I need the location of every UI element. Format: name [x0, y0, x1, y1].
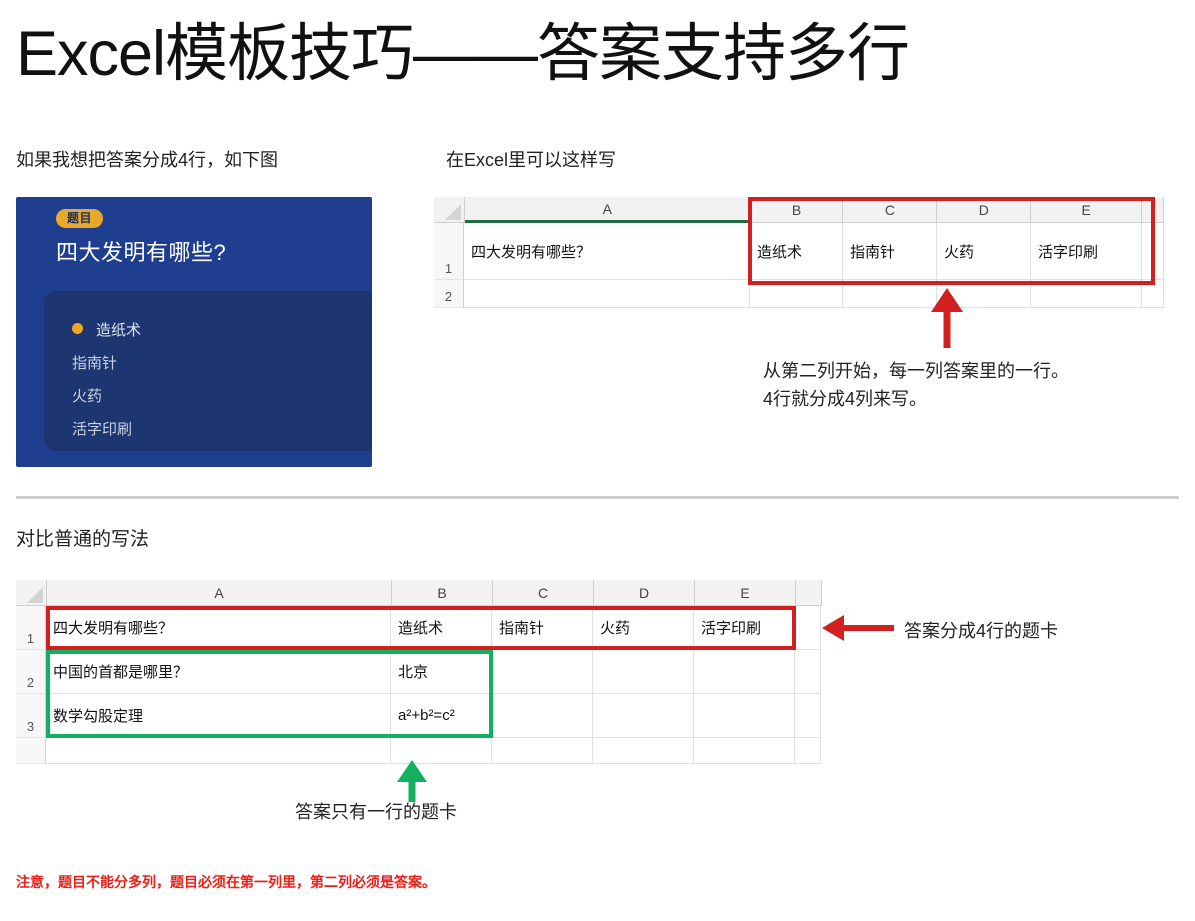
top-note-line-1: 从第二列开始，每一列答案里的一行。 — [763, 358, 1183, 386]
column-header-c[interactable]: C — [843, 197, 937, 223]
column-header-row: A B C D E — [16, 580, 822, 606]
cell-c2[interactable] — [492, 650, 593, 694]
cell-e1[interactable]: 活字印刷 — [694, 606, 795, 650]
status-badge: 题目 — [56, 209, 103, 228]
column-header-d[interactable]: D — [937, 197, 1031, 223]
cell-a4[interactable] — [46, 738, 391, 764]
cell-d4[interactable] — [593, 738, 694, 764]
row-header-2[interactable]: 2 — [434, 280, 464, 308]
column-header-a[interactable]: A — [465, 197, 751, 223]
row-header-1[interactable]: 1 — [434, 223, 464, 280]
cell-b1[interactable]: 造纸术 — [750, 223, 843, 280]
answer-item-2: 指南针 — [72, 352, 117, 373]
cell-c2[interactable] — [843, 280, 937, 308]
table-row[interactable]: 1 四大发明有哪些？ 造纸术 指南针 火药 活字印刷 — [434, 223, 1164, 280]
cell-b3[interactable]: a²+b²=c² — [391, 694, 492, 738]
cell-f2[interactable] — [795, 650, 821, 694]
cell-e3[interactable] — [694, 694, 795, 738]
answer-item-3: 火药 — [72, 385, 102, 406]
section-divider — [16, 496, 1179, 499]
cell-f2[interactable] — [1142, 280, 1164, 308]
red-up-arrow-icon — [931, 288, 963, 348]
column-header-a[interactable]: A — [47, 580, 392, 606]
cell-f3[interactable] — [795, 694, 821, 738]
answer-panel: 造纸术 指南针 火药 活字印刷 — [44, 291, 372, 451]
answer-item-4: 活字印刷 — [72, 418, 132, 439]
cell-f1[interactable] — [1142, 223, 1164, 280]
cell-a2[interactable]: 中国的首都是哪里？ — [46, 650, 391, 694]
cell-b1[interactable]: 造纸术 — [391, 606, 492, 650]
column-header-f[interactable] — [796, 580, 822, 606]
column-header-d[interactable]: D — [594, 580, 695, 606]
cell-e4[interactable] — [694, 738, 795, 764]
top-annotation-note: 从第二列开始，每一列答案里的一行。 4行就分成4列来写。 — [763, 358, 1183, 414]
cell-a1[interactable]: 四大发明有哪些？ — [464, 223, 750, 280]
section-title: 对比普通的写法 — [16, 524, 149, 551]
row-header-1[interactable]: 1 — [16, 606, 46, 650]
slide-canvas: Excel模板技巧——答案支持多行 如果我想把答案分成4行，如下图 在Excel… — [0, 0, 1195, 921]
green-up-arrow-icon — [397, 760, 427, 802]
warning-text: 注意，题目不能分多列，题目必须在第一列里，第二列必须是答案。 — [16, 872, 436, 892]
row-header-4[interactable] — [16, 738, 46, 764]
table-row[interactable]: 2 中国的首都是哪里？ 北京 — [16, 650, 822, 694]
cell-c1[interactable]: 指南针 — [843, 223, 937, 280]
select-all-triangle-icon[interactable] — [434, 197, 465, 223]
subheading-left: 如果我想把答案分成4行，如下图 — [16, 146, 278, 172]
cell-a1[interactable]: 四大发明有哪些？ — [46, 606, 391, 650]
cell-d3[interactable] — [593, 694, 694, 738]
top-note-line-2: 4行就分成4列来写。 — [763, 386, 1183, 414]
top-excel-grid[interactable]: A B C D E 1 四大发明有哪些？ 造纸术 指南针 火药 活字印刷 2 — [434, 197, 1164, 308]
answer-label-1: 造纸术 — [96, 322, 141, 339]
red-left-arrow-icon — [822, 620, 894, 636]
row-header-3[interactable]: 3 — [16, 694, 46, 738]
cell-e2[interactable] — [1031, 280, 1142, 308]
cell-c3[interactable] — [492, 694, 593, 738]
table-row[interactable]: 3 数学勾股定理 a²+b²=c² — [16, 694, 822, 738]
column-header-f[interactable] — [1142, 197, 1164, 223]
cell-b2[interactable]: 北京 — [391, 650, 492, 694]
column-header-b[interactable]: B — [751, 197, 844, 223]
card-question-text: 四大发明有哪些? — [56, 235, 226, 267]
green-arrow-label: 答案只有一行的题卡 — [295, 799, 457, 827]
cell-d1[interactable]: 火药 — [593, 606, 694, 650]
cell-a3[interactable]: 数学勾股定理 — [46, 694, 391, 738]
cell-f4[interactable] — [795, 738, 821, 764]
table-row[interactable]: 2 — [434, 280, 1164, 308]
cell-f1[interactable] — [795, 606, 821, 650]
cell-d2[interactable] — [593, 650, 694, 694]
answer-item-1: 造纸术 — [72, 319, 141, 340]
cell-d1[interactable]: 火药 — [937, 223, 1031, 280]
row-header-2[interactable]: 2 — [16, 650, 46, 694]
cell-b2[interactable] — [750, 280, 843, 308]
bottom-excel-grid[interactable]: A B C D E 1 四大发明有哪些？ 造纸术 指南针 火药 活字印刷 2 中… — [16, 580, 822, 764]
select-all-triangle-icon[interactable] — [16, 580, 47, 606]
column-header-row: A B C D E — [434, 197, 1164, 223]
column-header-e[interactable]: E — [1031, 197, 1142, 223]
cell-c4[interactable] — [492, 738, 593, 764]
column-header-b[interactable]: B — [392, 580, 493, 606]
bullet-icon — [72, 323, 83, 334]
right-arrow-label: 答案分成4行的题卡 — [904, 618, 1058, 646]
column-header-c[interactable]: C — [493, 580, 594, 606]
cell-a2[interactable] — [464, 280, 750, 308]
cell-e1[interactable]: 活字印刷 — [1031, 223, 1142, 280]
column-header-e[interactable]: E — [695, 580, 796, 606]
cell-e2[interactable] — [694, 650, 795, 694]
question-card: 题目 四大发明有哪些? 造纸术 指南针 火药 活字印刷 — [16, 197, 372, 467]
page-title: Excel模板技巧——答案支持多行 — [16, 18, 909, 90]
cell-c1[interactable]: 指南针 — [492, 606, 593, 650]
table-row[interactable]: 1 四大发明有哪些？ 造纸术 指南针 火药 活字印刷 — [16, 606, 822, 650]
subheading-right: 在Excel里可以这样写 — [446, 146, 616, 172]
